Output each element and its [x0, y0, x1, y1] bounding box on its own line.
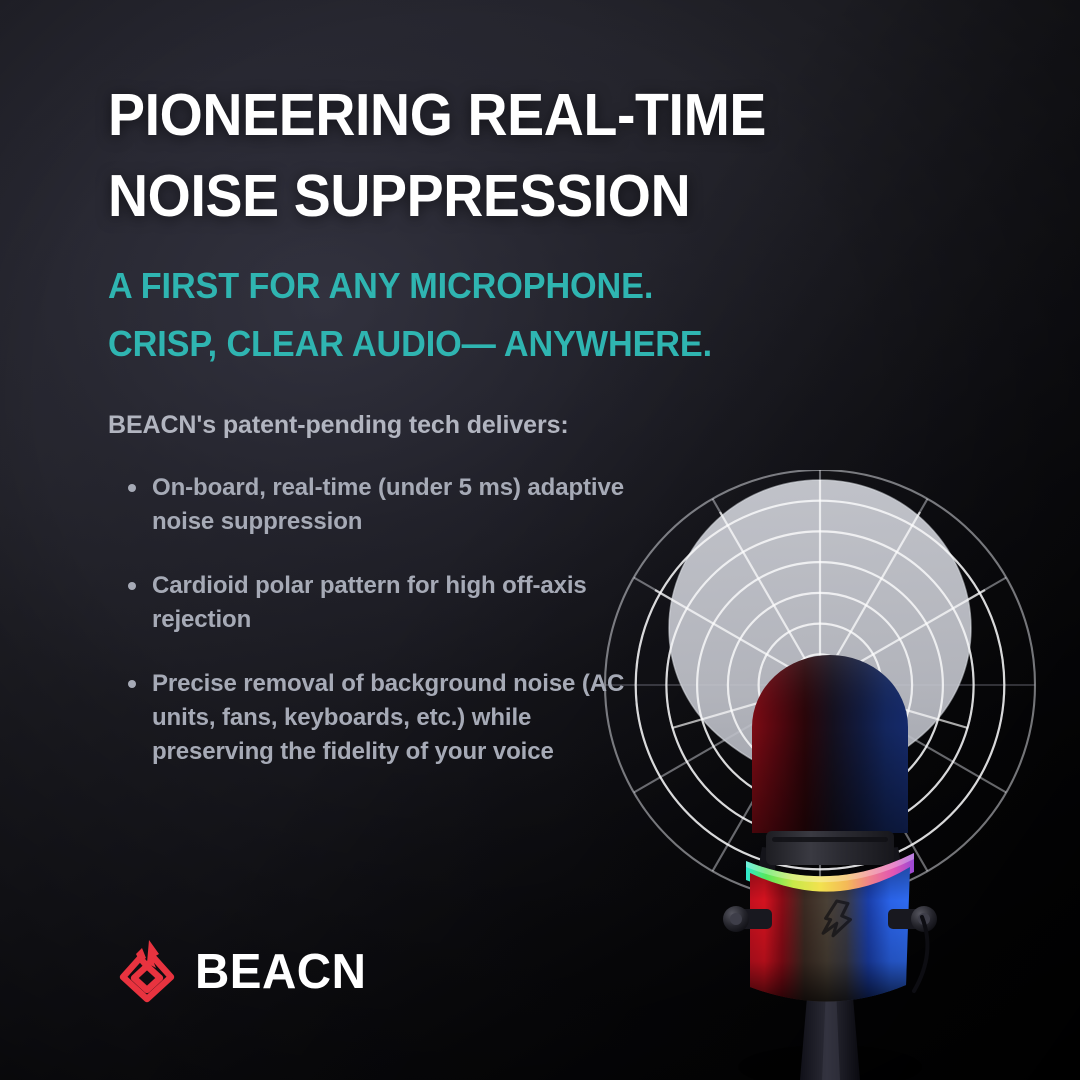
- feature-list: On-board, real-time (under 5 ms) adaptiv…: [108, 471, 628, 770]
- mic-collar-groove: [772, 837, 888, 842]
- bullet-dot-icon: [128, 484, 136, 492]
- brand-wordmark: BEACN: [195, 948, 366, 997]
- promo-graphic: PIONEERING REAL-TIME NOISE SUPPRESSION A…: [0, 0, 1080, 1080]
- mic-knob-left[interactable]: [723, 906, 772, 932]
- list-item-label: Cardioid polar pattern for high off-axis…: [152, 572, 587, 633]
- list-item: Precise removal of background noise (AC …: [108, 667, 628, 769]
- copy-column: PIONEERING REAL-TIME NOISE SUPPRESSION A…: [108, 86, 898, 800]
- beacn-flame-icon: [116, 936, 178, 1008]
- list-item-label: Precise removal of background noise (AC …: [152, 670, 624, 765]
- lede-text: BEACN's patent-pending tech delivers:: [108, 411, 898, 440]
- subheadline-line-1: A FIRST FOR ANY MICROPHONE.: [108, 265, 653, 306]
- list-item: On-board, real-time (under 5 ms) adaptiv…: [108, 471, 628, 539]
- list-item-label: On-board, real-time (under 5 ms) adaptiv…: [152, 474, 624, 535]
- headline-line-1: PIONEERING REAL-TIME: [108, 82, 766, 148]
- subheadline-line-2: CRISP, CLEAR AUDIO— ANYWHERE.: [108, 326, 859, 362]
- page-title: PIONEERING REAL-TIME NOISE SUPPRESSION: [108, 86, 851, 226]
- mic-collar: [766, 831, 894, 865]
- bullet-dot-icon: [128, 680, 136, 688]
- subheadline: A FIRST FOR ANY MICROPHONE. CRISP, CLEAR…: [108, 268, 859, 362]
- mic-knob-right[interactable]: [888, 906, 937, 932]
- bullet-dot-icon: [128, 582, 136, 590]
- headline-line-2: NOISE SUPPRESSION: [108, 167, 851, 226]
- brand-logo: BEACN: [116, 936, 372, 1008]
- list-item: Cardioid polar pattern for high off-axis…: [108, 569, 628, 637]
